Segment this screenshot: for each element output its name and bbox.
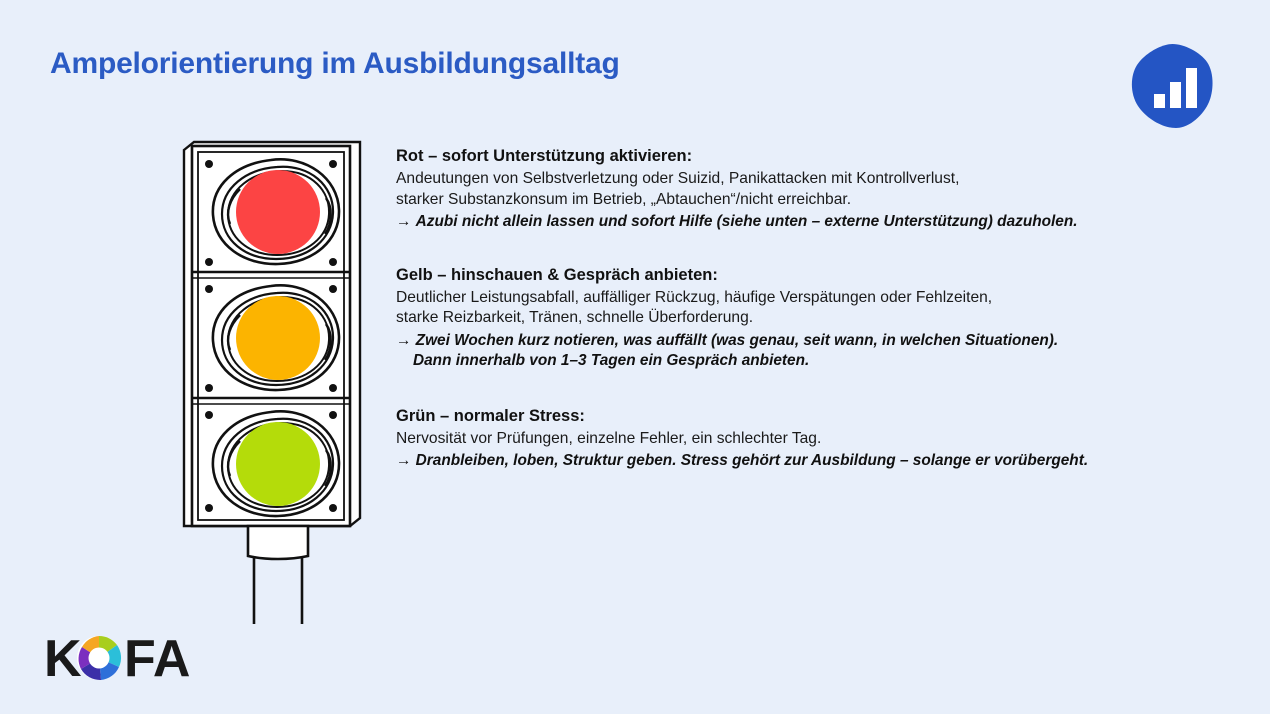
block-red-action: → Azubi nicht allein lassen und sofort H… (396, 212, 1186, 232)
content-text-column: Rot – sofort Unterstützung aktivieren: A… (396, 146, 1186, 472)
pole-collar (248, 526, 308, 559)
bar-chart-icon (1126, 40, 1218, 132)
block-yellow-action-text: Zwei Wochen kurz notieren, was auffällt … (416, 332, 1059, 349)
block-yellow: Gelb – hinschauen & Gespräch anbieten: D… (396, 265, 1186, 372)
arrow-icon: → (396, 452, 411, 469)
bar-large (1186, 68, 1197, 108)
aperture-icon (77, 636, 121, 680)
arrow-icon: → (396, 213, 411, 230)
block-yellow-line-2: starke Reizbarkeit, Tränen, schnelle Übe… (396, 308, 1186, 329)
traffic-light-illustration (178, 136, 378, 626)
red-lamp-disc (236, 170, 320, 254)
block-red-line-1: Andeutungen von Selbstverletzung oder Su… (396, 169, 1186, 190)
arrow-icon: → (396, 332, 411, 349)
block-green-line-1: Nervosität vor Prüfungen, einzelne Fehle… (396, 429, 1186, 450)
block-red: Rot – sofort Unterstützung aktivieren: A… (396, 146, 1186, 233)
page-title: Ampelorientierung im Ausbildungsalltag (50, 47, 620, 81)
block-green-action-text: Dranbleiben, loben, Struktur geben. Stre… (416, 452, 1088, 469)
brand-badge (1126, 40, 1218, 132)
green-lamp-disc (236, 422, 320, 506)
block-yellow-action-cont: Dann innerhalb von 1–3 Tagen ein Gespräc… (396, 351, 1186, 371)
kofa-logo: K FA (44, 628, 196, 688)
bar-small (1154, 94, 1165, 108)
block-green-heading: Grün – normaler Stress: (396, 406, 1186, 428)
block-yellow-heading: Gelb – hinschauen & Gespräch anbieten: (396, 265, 1186, 287)
kofa-letter-k: K (44, 630, 82, 688)
block-green-action: → Dranbleiben, loben, Struktur geben. St… (396, 451, 1186, 471)
slide-root: Ampelorientierung im Ausbildungsalltag (0, 0, 1270, 714)
yellow-lamp-disc (236, 296, 320, 380)
kofa-letters-fa: FA (124, 630, 190, 688)
block-red-action-text: Azubi nicht allein lassen und sofort Hil… (416, 213, 1078, 230)
bar-medium (1170, 82, 1181, 108)
block-green: Grün – normaler Stress: Nervosität vor P… (396, 406, 1186, 472)
block-yellow-line-1: Deutlicher Leistungsabfall, auffälliger … (396, 288, 1186, 309)
block-yellow-action: → Zwei Wochen kurz notieren, was auffäll… (396, 331, 1186, 351)
block-red-line-2: starker Substanzkonsum im Betrieb, „Abta… (396, 190, 1186, 211)
block-red-heading: Rot – sofort Unterstützung aktivieren: (396, 146, 1186, 168)
